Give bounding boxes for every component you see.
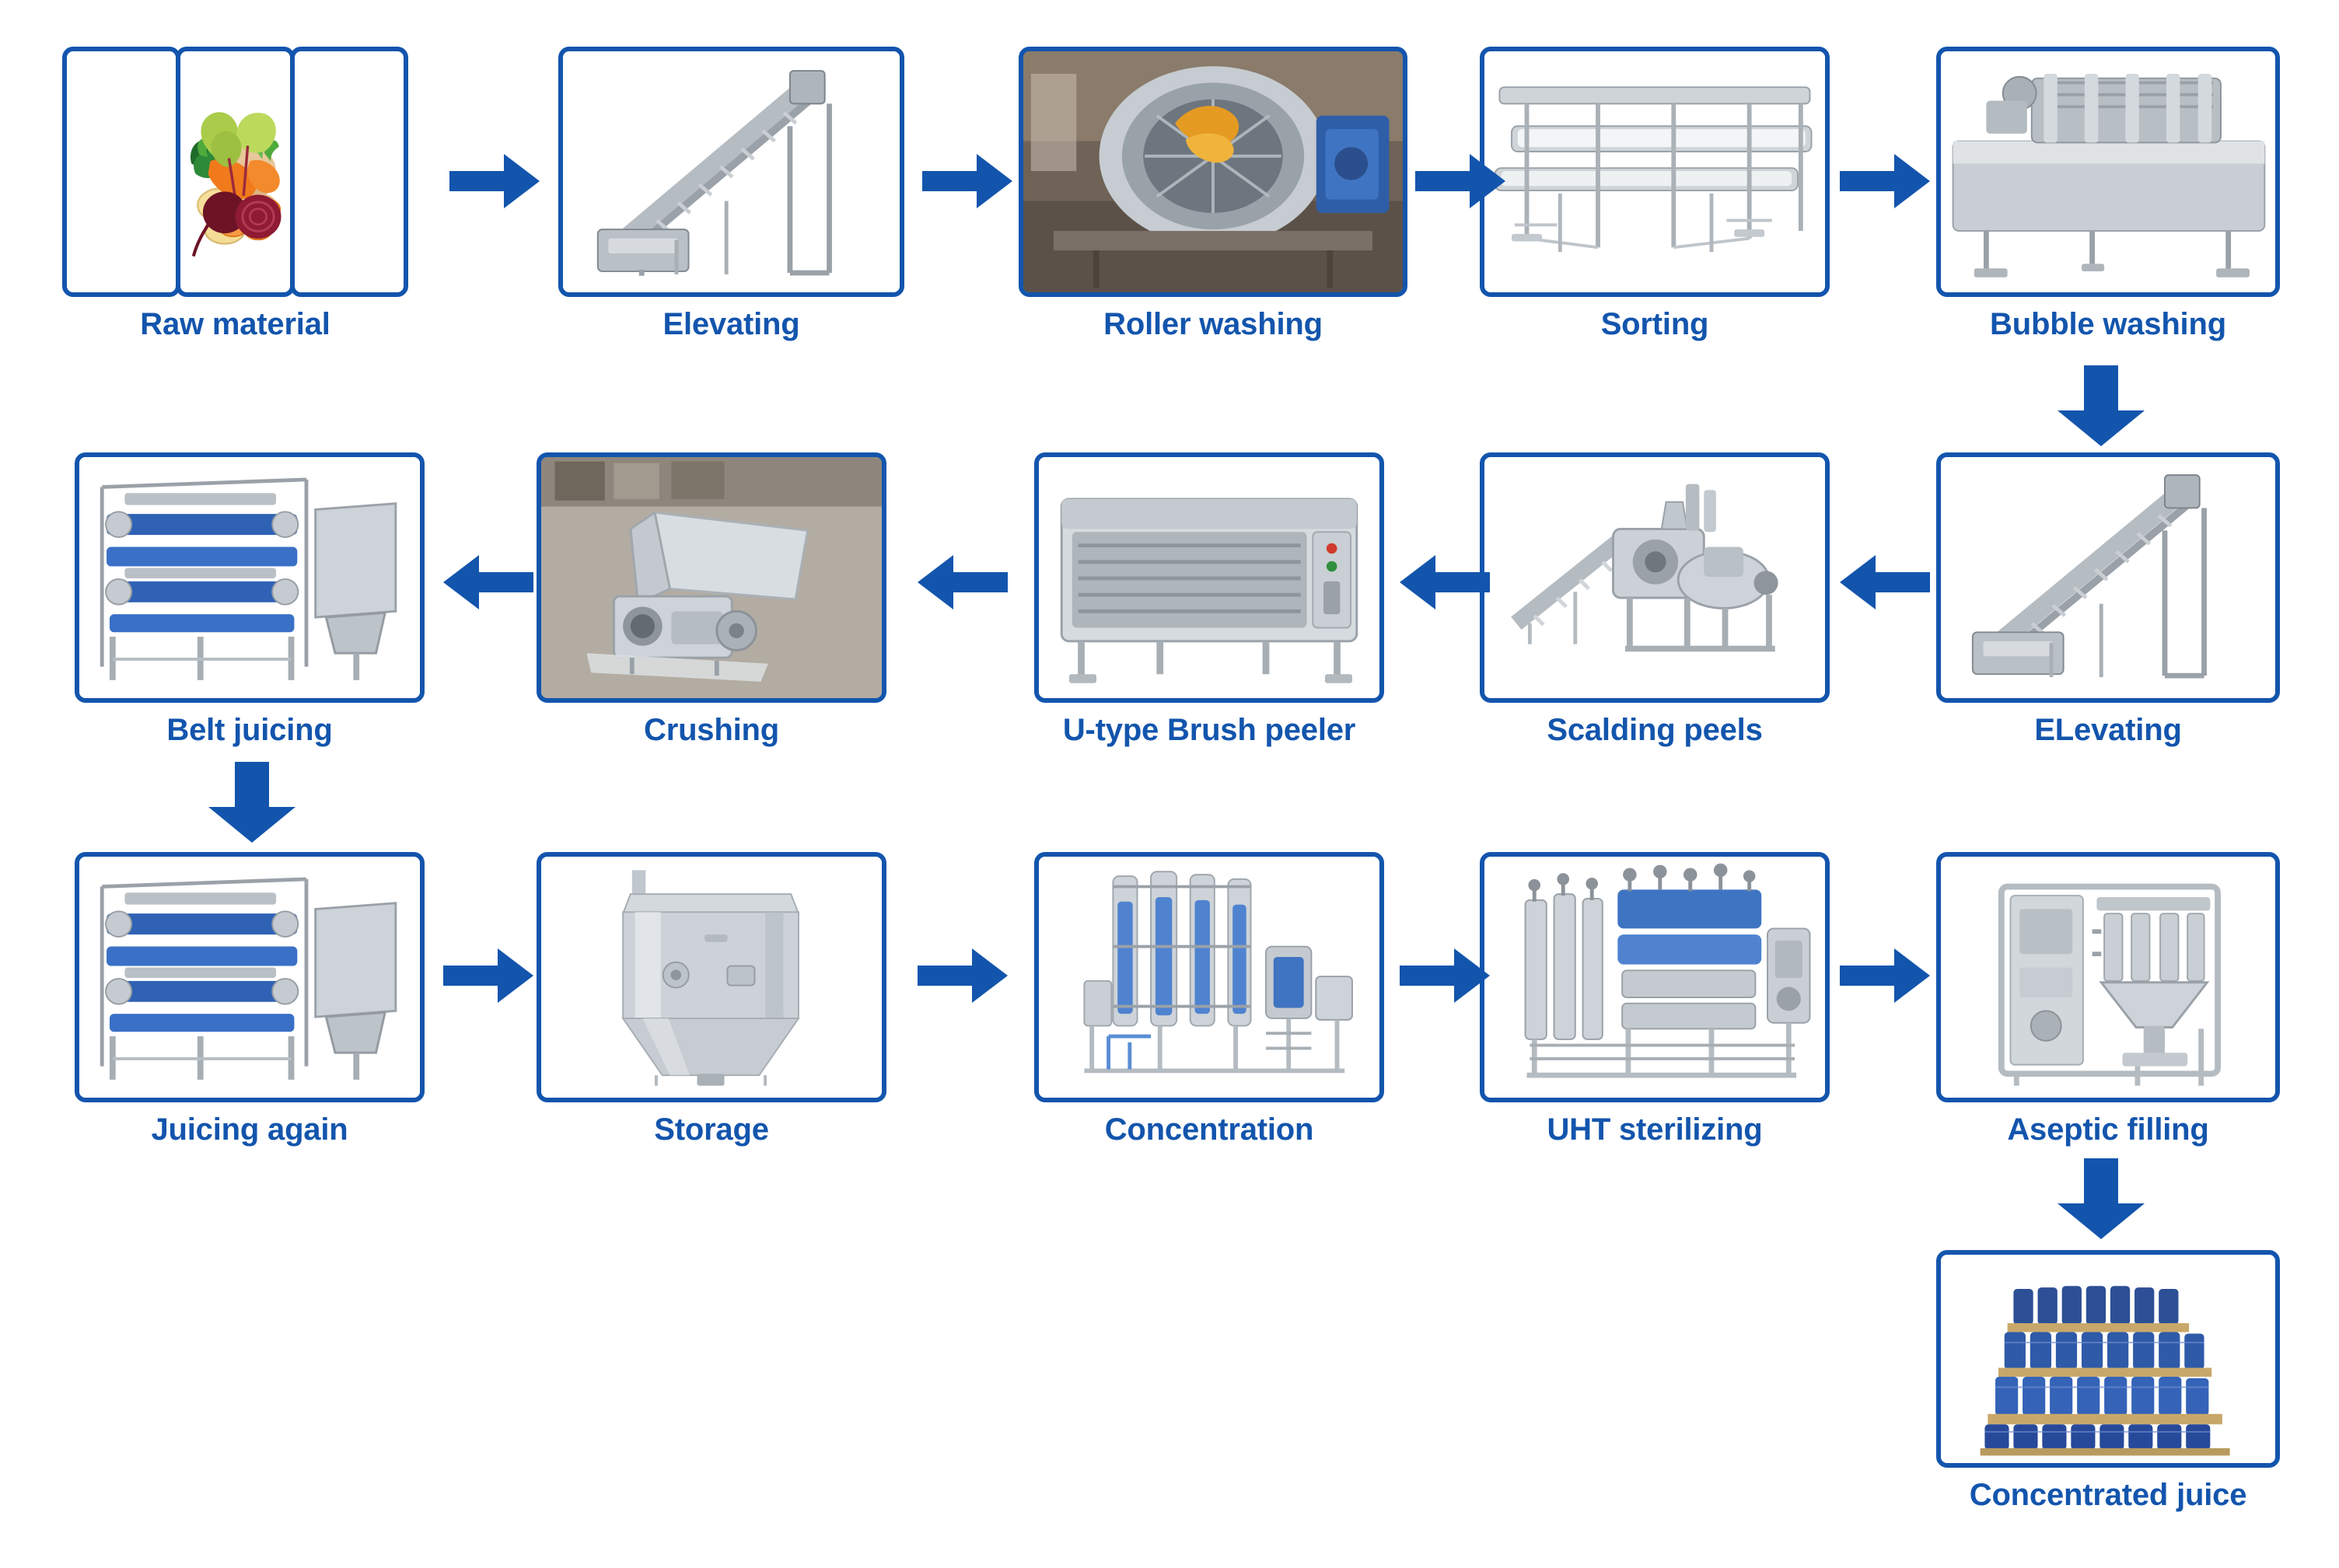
connector-arrow-right <box>1400 947 1490 1004</box>
bubble-washing-machine-photo <box>1941 51 2275 292</box>
step-label-juicing-again: Juicing again <box>151 1112 348 1147</box>
beetroot-photo <box>290 47 408 297</box>
connector-arrow-right <box>1415 152 1505 210</box>
stacked-blue-drums-photo <box>1941 1255 2275 1463</box>
step-elevating-1[interactable]: Elevating <box>558 47 904 297</box>
step-belt-juicing[interactable]: Belt juicing <box>75 452 425 703</box>
step-raw-material[interactable]: Raw material <box>62 47 408 297</box>
step-uht-sterilizing[interactable]: UHT sterilizing <box>1480 852 1830 1102</box>
sorting-conveyor-belt-photo <box>1484 51 1825 292</box>
step-label-raw-material: Raw material <box>140 307 330 342</box>
crusher-hopper-photo <box>541 457 882 698</box>
evaporator-concentration-plant-photo <box>1039 857 1379 1098</box>
connector-arrow-right <box>922 152 1012 210</box>
rotary-drum-roller-washer-photo <box>1023 51 1403 292</box>
step-label-bubble-washing: Bubble washing <box>1990 307 2226 342</box>
step-label-brush-peeler: U-type Brush peeler <box>1063 713 1355 748</box>
connector-arrow-right <box>1840 152 1930 210</box>
step-concentrated-juice[interactable]: Concentrated juice <box>1936 1250 2280 1468</box>
step-label-uht-sterilizing: UHT sterilizing <box>1547 1112 1762 1147</box>
step-label-roller-washing: Roller washing <box>1103 307 1323 342</box>
aseptic-filling-machine-photo <box>1941 857 2275 1098</box>
step-label-sorting: Sorting <box>1601 307 1709 342</box>
connector-arrow-right <box>443 947 533 1004</box>
step-label-elevating-1: Elevating <box>663 307 799 342</box>
step-concentration[interactable]: Concentration <box>1034 852 1384 1102</box>
uht-sterilizer-photo <box>1484 857 1825 1098</box>
belt-press-juicer-photo <box>79 857 420 1098</box>
step-label-elevating-2: ELevating <box>2034 713 2181 748</box>
step-sorting[interactable]: Sorting <box>1480 47 1830 297</box>
connector-arrow-down <box>2053 1158 2149 1239</box>
step-roller-washing[interactable]: Roller washing <box>1019 47 1407 297</box>
u-type-brush-peeler-photo <box>1039 457 1379 698</box>
connector-arrow-left <box>918 554 1008 611</box>
step-label-belt-juicing: Belt juicing <box>166 713 332 748</box>
step-scalding-peels[interactable]: Scalding peels <box>1480 452 1830 703</box>
step-label-scalding-peels: Scalding peels <box>1547 713 1762 748</box>
connector-arrow-left <box>443 554 533 611</box>
process-flow-diagram: Raw material <box>0 0 2339 1568</box>
step-brush-peeler[interactable]: U-type Brush peeler <box>1034 452 1384 703</box>
scalding-peeler-photo <box>1484 457 1825 698</box>
step-label-concentration: Concentration <box>1105 1112 1314 1147</box>
step-label-concentrated-juice: Concentrated juice <box>1970 1478 2246 1513</box>
connector-arrow-right <box>918 947 1008 1004</box>
step-juicing-again[interactable]: Juicing again <box>75 852 425 1102</box>
inclined-belt-elevator-photo <box>1941 457 2275 698</box>
step-elevating-2[interactable]: ELevating <box>1936 452 2280 703</box>
connector-arrow-left <box>1840 554 1930 611</box>
step-label-storage: Storage <box>654 1112 769 1147</box>
step-storage[interactable]: Storage <box>537 852 886 1102</box>
step-label-crushing: Crushing <box>644 713 779 748</box>
step-aseptic-filling[interactable]: Aseptic filling <box>1936 852 2280 1102</box>
raw-material-cell-beetroot[interactable] <box>290 47 408 297</box>
step-label-aseptic-filling: Aseptic filling <box>2007 1112 2208 1147</box>
inclined-belt-elevator-photo <box>563 51 900 292</box>
connector-arrow-left <box>1400 554 1490 611</box>
step-crushing[interactable]: Crushing <box>537 452 886 703</box>
connector-arrow-right <box>449 152 540 210</box>
connector-arrow-right <box>1840 947 1930 1004</box>
storage-tank-photo <box>541 857 882 1098</box>
step-bubble-washing[interactable]: Bubble washing <box>1936 47 2280 297</box>
connector-arrow-down <box>2053 365 2149 446</box>
connector-arrow-down <box>204 762 300 843</box>
belt-press-juicer-photo <box>79 457 420 698</box>
